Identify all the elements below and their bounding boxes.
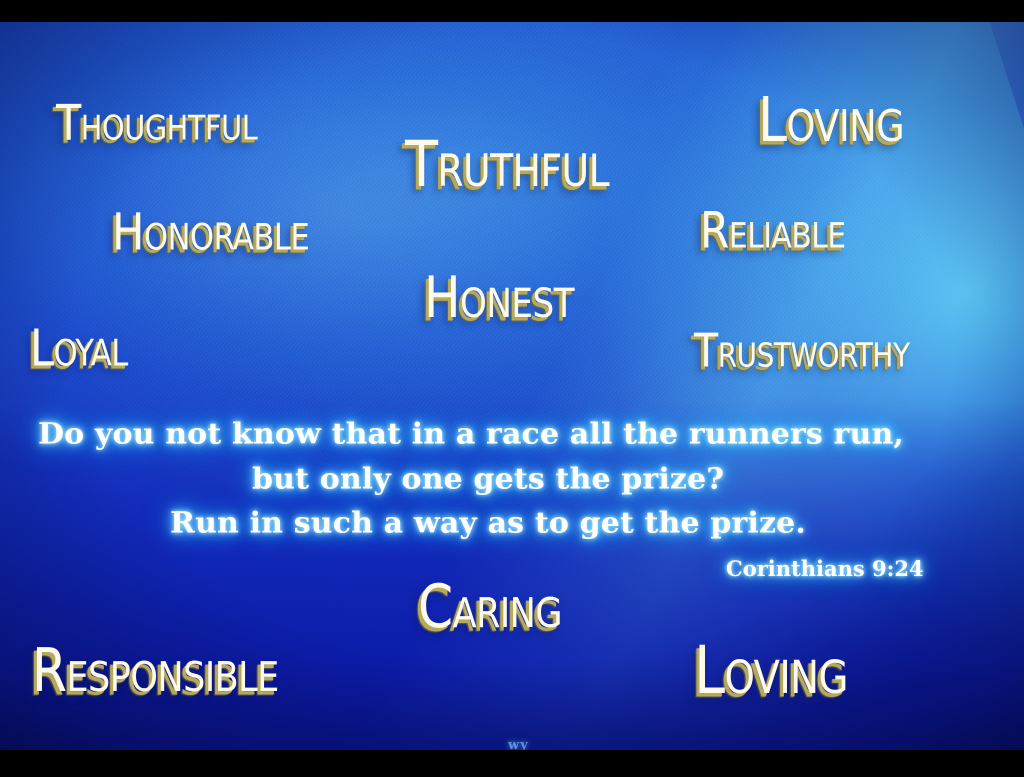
character-word-loyal: Loyal — [30, 319, 128, 378]
character-word-responsible: Responsible — [32, 637, 279, 706]
character-word-caring: Caring — [418, 573, 562, 642]
projector-artifact-text: wy — [508, 738, 529, 750]
character-word-honest: Honest — [424, 264, 574, 331]
character-word-trustworthy: Trustworthy — [694, 324, 910, 378]
character-word-loving-bottom: Loving — [694, 632, 848, 709]
projection-canvas: Thoughtful Truthful Loving Honorable Rel… — [0, 22, 1024, 750]
slide-root: Thoughtful Truthful Loving Honorable Rel… — [0, 0, 1024, 777]
character-word-reliable: Reliable — [700, 202, 846, 260]
character-word-honorable: Honorable — [112, 203, 309, 262]
verse-line-2: but only one gets the prize? — [252, 463, 724, 497]
character-word-loving-top: Loving — [758, 84, 904, 156]
verse-line-1: Do you not know that in a race all the r… — [38, 418, 904, 452]
character-word-truthful: Truthful — [405, 128, 609, 202]
character-word-thoughtful: Thoughtful — [56, 94, 257, 151]
verse-line-3: Run in such a way as to get the prize. — [170, 507, 806, 541]
verse-reference: Corinthians 9:24 — [726, 556, 924, 581]
